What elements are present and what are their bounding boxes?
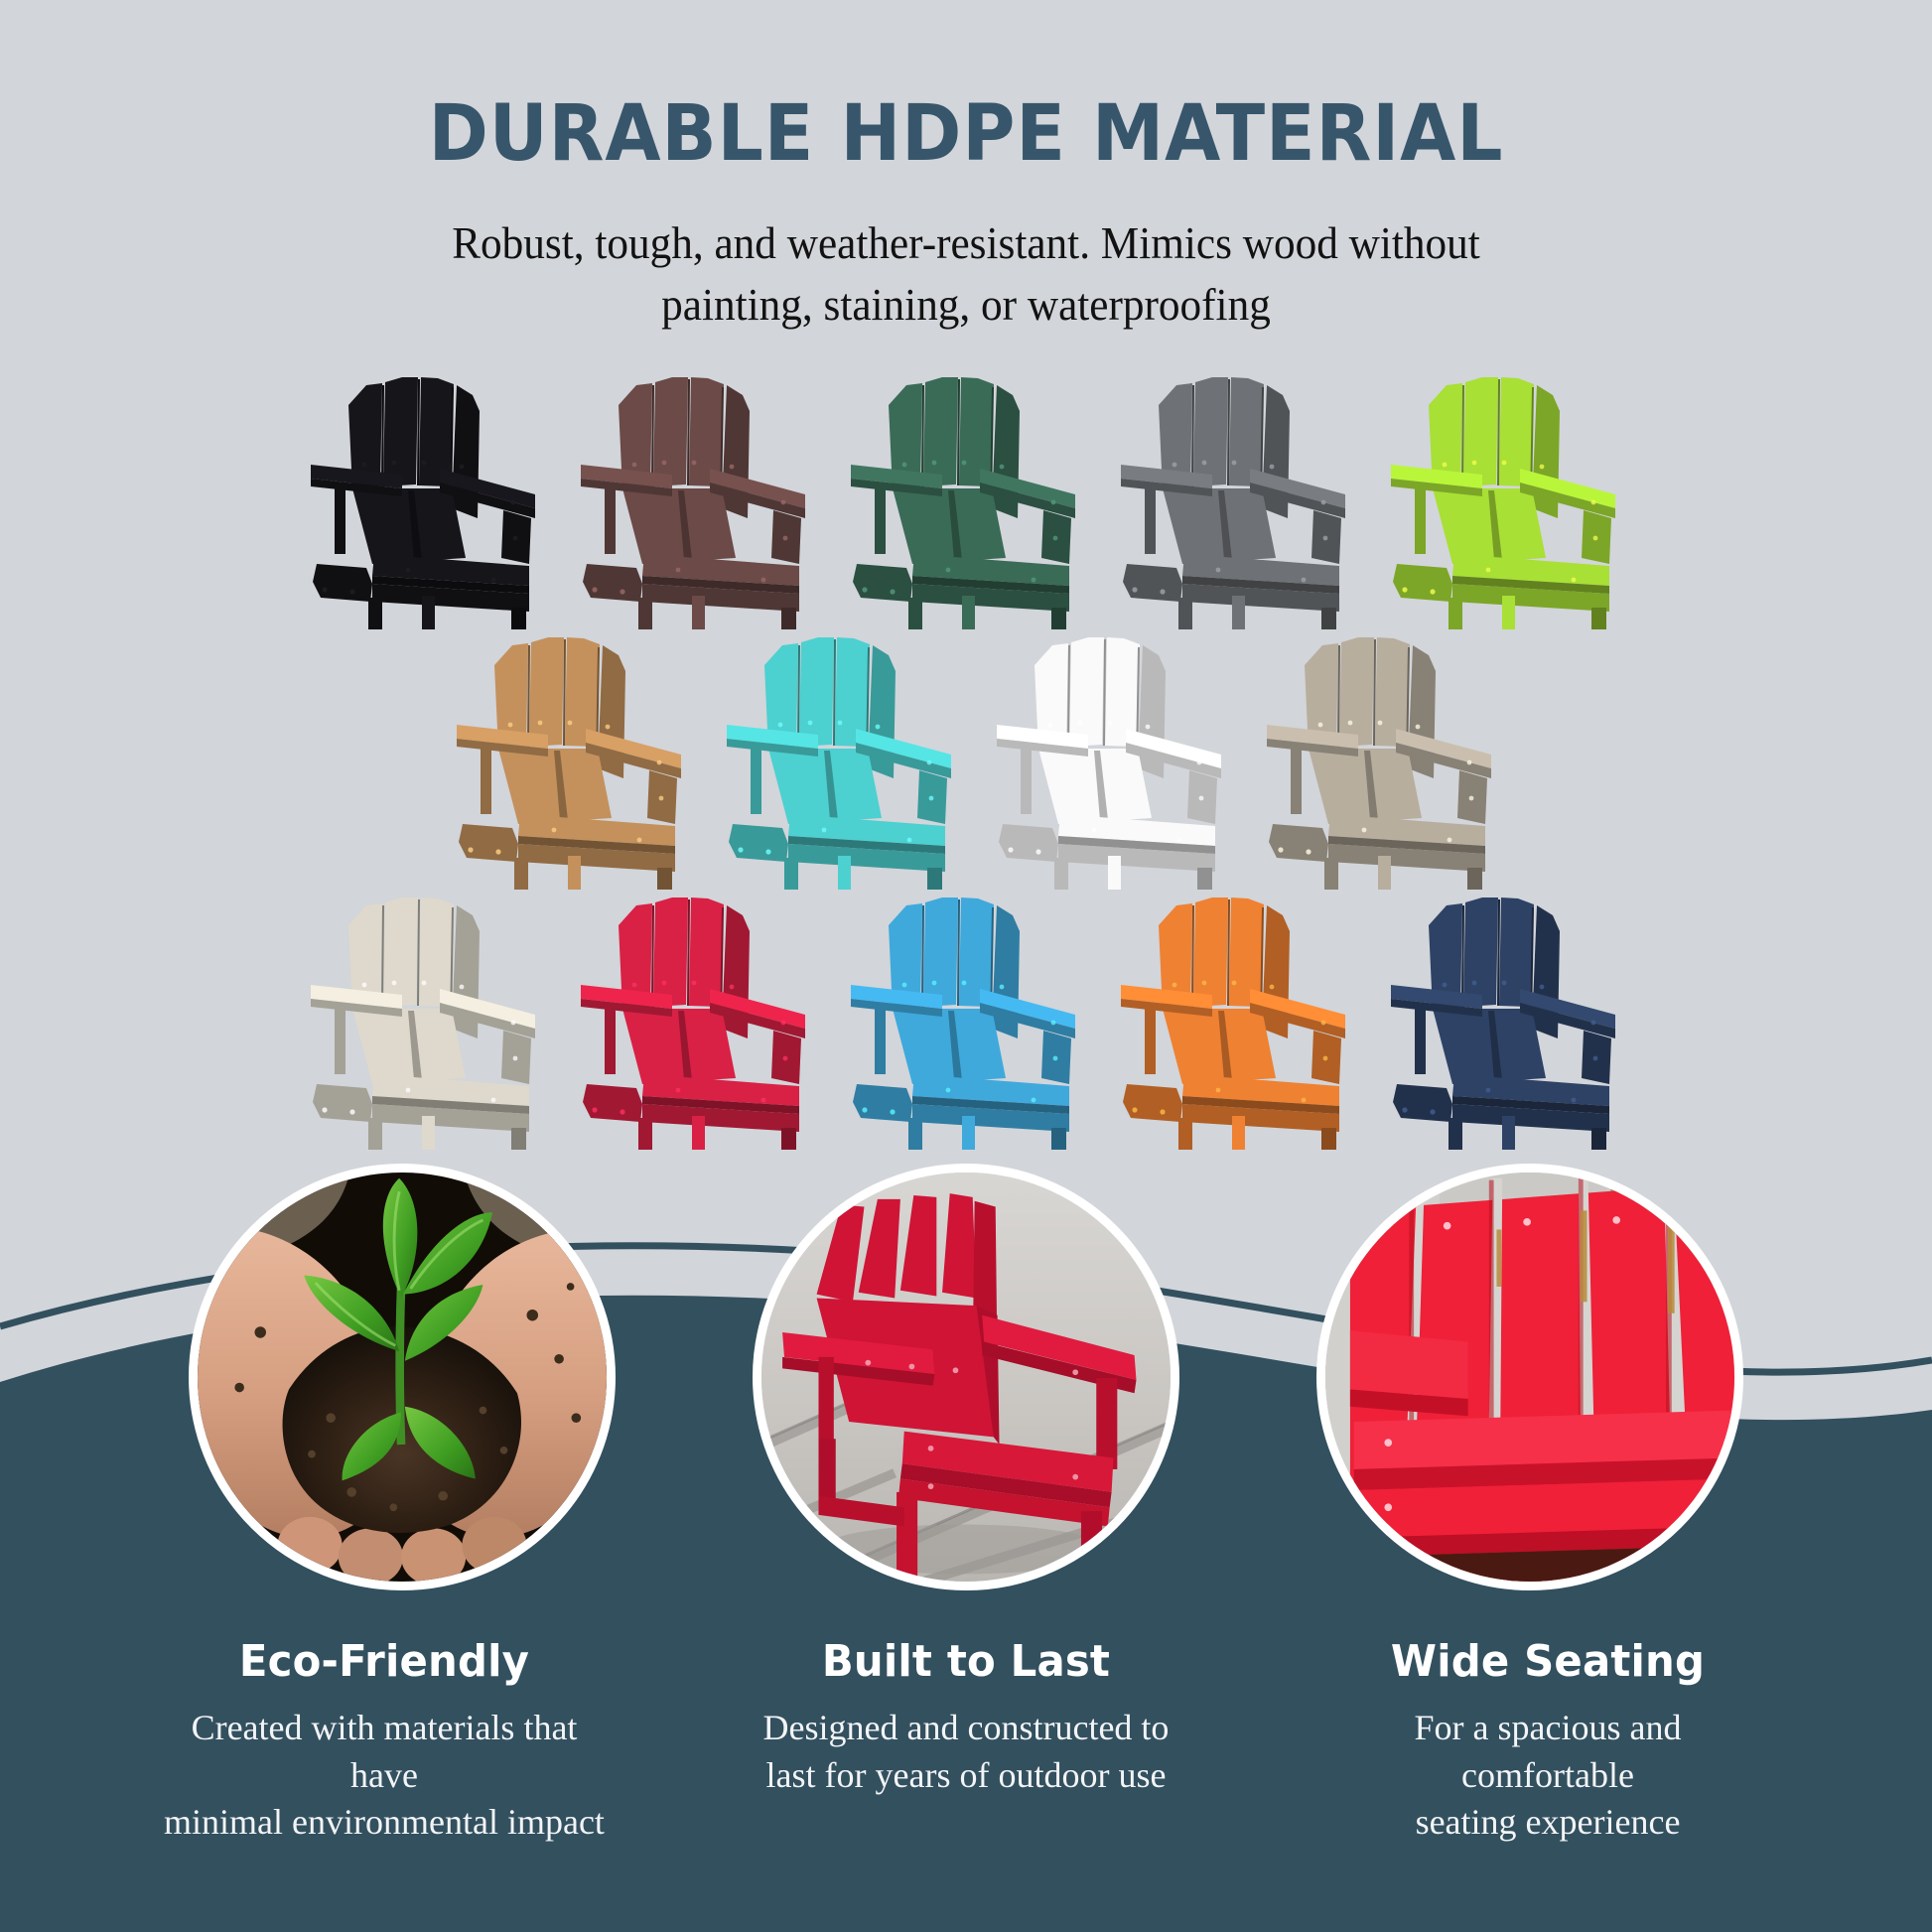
chair-swatch-sky-blue[interactable] xyxy=(831,890,1101,1150)
chair-swatch-gray[interactable] xyxy=(1101,369,1371,629)
chair-row xyxy=(0,629,1932,890)
feature-description: Designed and constructed to last for yea… xyxy=(744,1705,1188,1799)
infographic-page: DURABLE HDPE MATERIAL Robust, tough, and… xyxy=(0,0,1932,1932)
red-chair-wide-seat-closeup-photo xyxy=(1316,1164,1743,1590)
chair-row xyxy=(0,369,1932,629)
feature-desc-line-2: last for years of outdoor use xyxy=(744,1752,1188,1800)
adirondack-chair-icon xyxy=(1101,369,1371,629)
feature-title: Built to Last xyxy=(755,1636,1177,1687)
feature-photos xyxy=(0,1164,1932,1620)
hands-holding-seedling-photo xyxy=(189,1164,616,1590)
chair-swatch-teak[interactable] xyxy=(437,629,707,890)
feature-wide-seating: Wide Seating For a spacious and comforta… xyxy=(1325,1636,1770,1847)
chair-swatch-red[interactable] xyxy=(561,890,831,1150)
chair-swatch-dark-green[interactable] xyxy=(831,369,1101,629)
page-title: DURABLE HDPE MATERIAL xyxy=(68,95,1864,173)
chair-swatch-black[interactable] xyxy=(291,369,561,629)
feature-desc-line-1: Designed and constructed to xyxy=(744,1705,1188,1752)
subtitle-line-2: painting, staining, or waterproofing xyxy=(58,274,1873,336)
adirondack-chair-icon xyxy=(977,629,1247,890)
adirondack-chair-icon xyxy=(1247,629,1517,890)
feature-title: Eco-Friendly xyxy=(173,1636,596,1687)
chair-swatch-lime-green[interactable] xyxy=(1371,369,1641,629)
feature-built-to-last: Built to Last Designed and constructed t… xyxy=(744,1636,1188,1847)
red-adirondack-chair-patio-photo xyxy=(753,1164,1179,1590)
feature-desc-line-1: For a spacious and comfortable xyxy=(1325,1705,1770,1799)
feature-desc-line-1: Created with materials that have xyxy=(162,1705,607,1799)
feature-eco-friendly: Eco-Friendly Created with materials that… xyxy=(162,1636,607,1847)
adirondack-chair-icon xyxy=(1371,369,1641,629)
adirondack-chair-icon xyxy=(561,369,831,629)
feature-title: Wide Seating xyxy=(1336,1636,1759,1687)
adirondack-chair-icon xyxy=(1101,890,1371,1150)
adirondack-chair-icon xyxy=(1371,890,1641,1150)
chair-color-grid xyxy=(0,369,1932,1150)
header: DURABLE HDPE MATERIAL Robust, tough, and… xyxy=(0,0,1932,336)
chair-row xyxy=(0,890,1932,1150)
adirondack-chair-icon xyxy=(291,369,561,629)
feature-description: For a spacious and comfortable seating e… xyxy=(1325,1705,1770,1847)
adirondack-chair-icon xyxy=(831,890,1101,1150)
chair-swatch-orange[interactable] xyxy=(1101,890,1371,1150)
adirondack-chair-icon xyxy=(707,629,977,890)
chair-swatch-turquoise[interactable] xyxy=(707,629,977,890)
chair-swatch-white[interactable] xyxy=(977,629,1247,890)
chair-swatch-brown[interactable] xyxy=(561,369,831,629)
chair-swatch-weathered-wood[interactable] xyxy=(1247,629,1517,890)
feature-captions: Eco-Friendly Created with materials that… xyxy=(0,1636,1932,1847)
feature-description: Created with materials that have minimal… xyxy=(162,1705,607,1847)
chair-swatch-navy-blue[interactable] xyxy=(1371,890,1641,1150)
chair-swatch-ivory[interactable] xyxy=(291,890,561,1150)
page-subtitle: Robust, tough, and weather-resistant. Mi… xyxy=(58,212,1873,336)
feature-desc-line-2: minimal environmental impact xyxy=(162,1799,607,1847)
feature-desc-line-2: seating experience xyxy=(1325,1799,1770,1847)
adirondack-chair-icon xyxy=(561,890,831,1150)
subtitle-line-1: Robust, tough, and weather-resistant. Mi… xyxy=(58,212,1873,274)
adirondack-chair-icon xyxy=(437,629,707,890)
adirondack-chair-icon xyxy=(291,890,561,1150)
adirondack-chair-icon xyxy=(831,369,1101,629)
